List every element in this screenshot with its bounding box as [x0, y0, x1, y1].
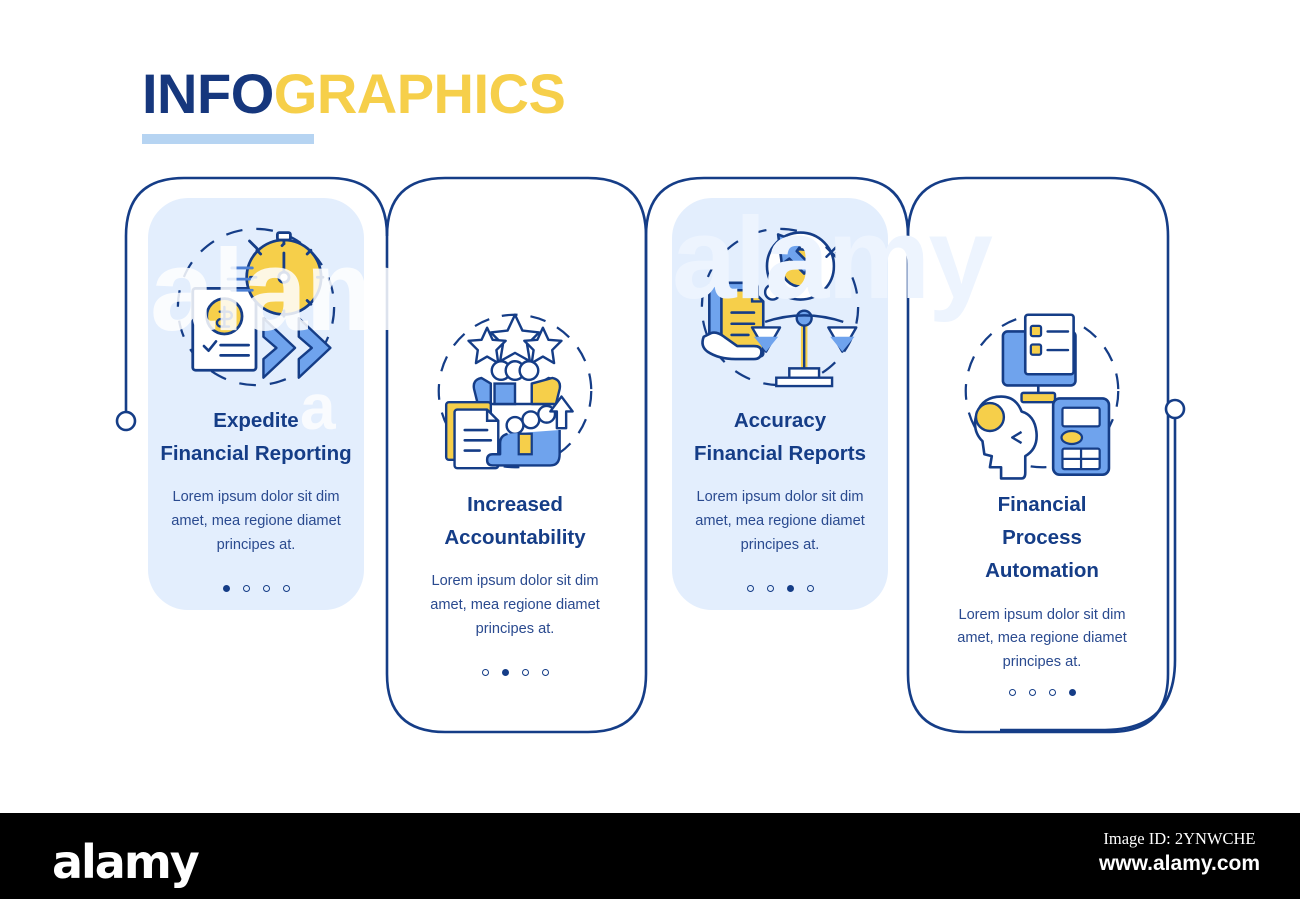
infographic-canvas: INFOGRAPHICS — [0, 0, 1300, 899]
alamy-logo: alamy — [52, 835, 198, 889]
card-body: Lorem ipsum dolor sit dim amet, mea regi… — [682, 486, 878, 557]
title-underline — [142, 134, 314, 144]
card-title: Accuracy Financial Reports — [694, 404, 866, 470]
step-dot-3[interactable] — [522, 669, 529, 676]
step-dot-1[interactable] — [482, 669, 489, 676]
step-dot-4[interactable] — [1069, 689, 1076, 696]
step-dot-1[interactable] — [223, 585, 230, 592]
step-dot-4[interactable] — [807, 585, 814, 592]
step-dot-1[interactable] — [1009, 689, 1016, 696]
connector-end-node — [1166, 400, 1184, 418]
step-dot-3[interactable] — [263, 585, 270, 592]
watermark-alamy-small: a — [300, 370, 336, 444]
step-indicator[interactable] — [1009, 675, 1076, 696]
step-dot-2[interactable] — [243, 585, 250, 592]
card-title: Financial Process Automation — [944, 488, 1140, 588]
step-dot-2[interactable] — [502, 669, 509, 676]
alamy-footer-bar: alamy Image ID: 2YNWCHE www.alamy.com — [0, 813, 1300, 899]
step-dot-3[interactable] — [787, 585, 794, 592]
step-dot-2[interactable] — [767, 585, 774, 592]
footer-right-block: Image ID: 2YNWCHE www.alamy.com — [1099, 829, 1260, 876]
title-part-info: INFO — [142, 62, 274, 125]
alamy-url: www.alamy.com — [1099, 852, 1260, 876]
watermark-alamy-right: alamy — [672, 200, 991, 316]
card-body: Lorem ipsum dolor sit dim amet, mea regi… — [158, 486, 354, 557]
step-dot-4[interactable] — [542, 669, 549, 676]
card-body: Lorem ipsum dolor sit dim amet, mea regi… — [417, 570, 613, 641]
step-indicator[interactable] — [747, 571, 814, 592]
step-indicator[interactable] — [482, 655, 549, 676]
step-indicator[interactable] — [223, 571, 290, 592]
step-dot-3[interactable] — [1049, 689, 1056, 696]
connector-start-node — [117, 412, 135, 430]
page-title: INFOGRAPHICS — [142, 66, 565, 144]
watermark-alamy-left: alamy — [150, 232, 469, 348]
image-id-label: Image ID: 2YNWCHE — [1099, 829, 1260, 849]
title-text: INFOGRAPHICS — [142, 66, 565, 122]
step-dot-2[interactable] — [1029, 689, 1036, 696]
card-body: Lorem ipsum dolor sit dim amet, mea regi… — [944, 604, 1140, 675]
step-dot-4[interactable] — [283, 585, 290, 592]
card-title: Increased Accountability — [444, 488, 585, 554]
card-financial-process-automation[interactable]: Financial Process Automation Lorem ipsum… — [934, 282, 1150, 694]
monitor-brain-calculator-icon — [949, 298, 1135, 484]
title-part-graphics: GRAPHICS — [274, 62, 566, 125]
step-dot-1[interactable] — [747, 585, 754, 592]
